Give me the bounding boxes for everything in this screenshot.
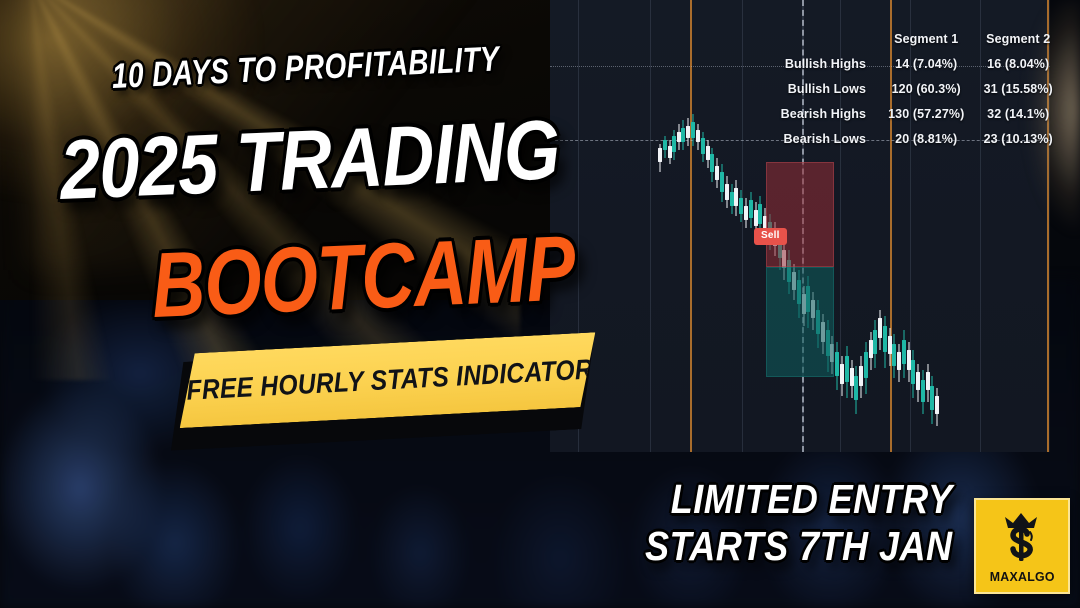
cta-line-1: LIMITED ENTRY	[644, 478, 952, 521]
cell-segment-1: 20 (8.81%)	[878, 126, 974, 151]
cell-segment-2: 31 (15.58%)	[974, 76, 1062, 101]
table-row: Bearish Lows20 (8.81%)23 (10.13%)	[780, 126, 1062, 151]
cell-segment-2: 16 (8.04%)	[974, 51, 1062, 76]
headline-kicker: 10 DAYS TO PROFITABILITY	[111, 39, 500, 97]
cta-line-2: STARTS 7TH JAN	[644, 525, 952, 568]
row-label: Bullish Highs	[780, 51, 878, 76]
cell-segment-1: 14 (7.04%)	[878, 51, 974, 76]
cell-segment-2: 23 (10.13%)	[974, 126, 1062, 151]
candle	[749, 0, 753, 452]
column-header-segment-2: Segment 2	[974, 26, 1062, 51]
candle	[744, 0, 748, 452]
row-label: Bearish Lows	[780, 126, 878, 151]
candle	[758, 0, 762, 452]
cta-block: LIMITED ENTRY STARTS 7TH JAN	[603, 478, 952, 568]
promo-thumbnail: Sell Segment 1 Segment 2 Bullish Highs14…	[0, 0, 1080, 608]
row-label: Bullish Lows	[780, 76, 878, 101]
candle	[720, 0, 724, 452]
candle	[710, 0, 714, 452]
table-row: Bullish Highs14 (7.04%)16 (8.04%)	[780, 51, 1062, 76]
candle	[715, 0, 719, 452]
table-header-row: Segment 1 Segment 2	[780, 26, 1062, 51]
cell-segment-2: 32 (14.1%)	[974, 101, 1062, 126]
headline-emphasis: BOOTCAMP	[150, 222, 576, 332]
candle	[701, 0, 705, 452]
row-label: Bearish Highs	[780, 101, 878, 126]
brand-logo: MAXALGO	[974, 498, 1070, 594]
table-row: Bullish Lows120 (60.3%)31 (15.58%)	[780, 76, 1062, 101]
stop-loss-zone	[766, 162, 834, 267]
cell-segment-1: 120 (60.3%)	[878, 76, 974, 101]
take-profit-zone	[766, 267, 834, 377]
hourly-stats-table: Segment 1 Segment 2 Bullish Highs14 (7.0…	[780, 26, 1062, 151]
candle	[739, 0, 743, 452]
candle	[725, 0, 729, 452]
table-row: Bearish Highs130 (57.27%)32 (14.1%)	[780, 101, 1062, 126]
sell-signal-badge[interactable]: Sell	[754, 228, 787, 245]
table-corner-cell	[780, 26, 878, 51]
column-header-segment-1: Segment 1	[878, 26, 974, 51]
logo-wordmark: MAXALGO	[989, 569, 1054, 584]
headline-main: 2025 TRADING	[58, 107, 561, 212]
banner-label: FREE HOURLY STATS INDICATOR	[186, 353, 594, 406]
candle	[734, 0, 738, 452]
crowned-dollar-sign-icon	[994, 510, 1050, 568]
cell-segment-1: 130 (57.27%)	[878, 101, 974, 126]
